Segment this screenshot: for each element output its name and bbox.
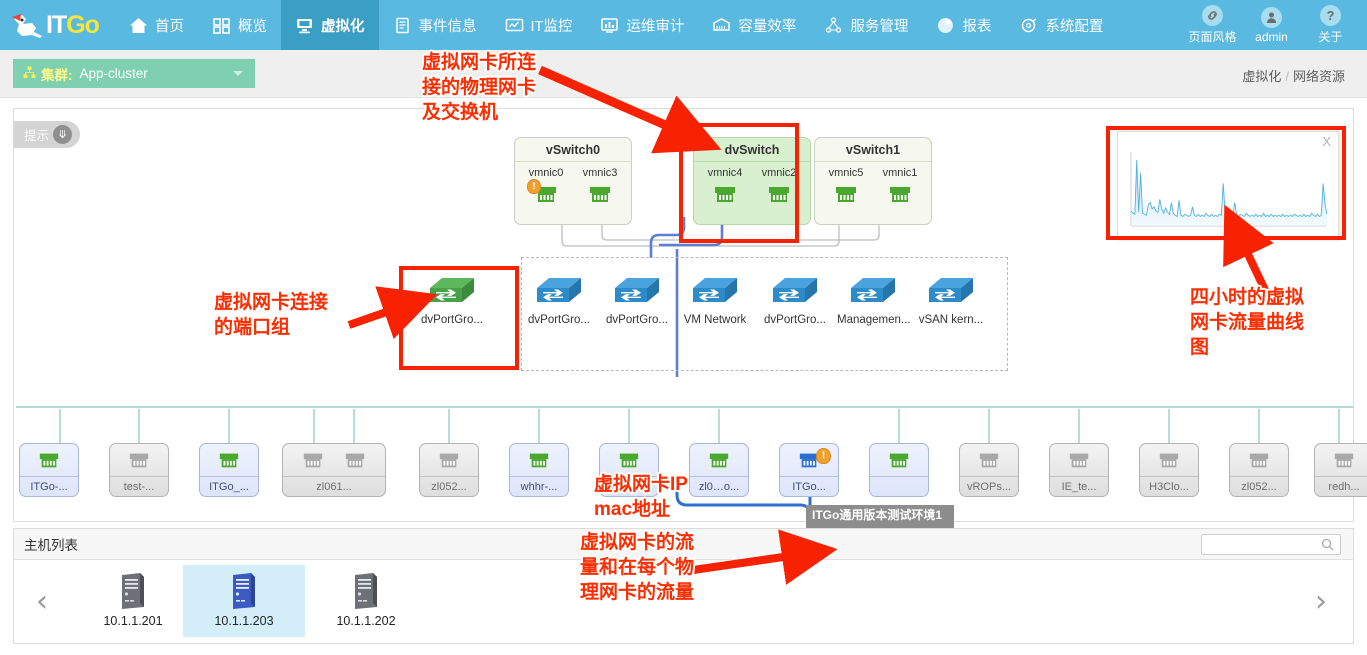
chevron-down-icon[interactable] bbox=[233, 71, 243, 76]
vm-node-6[interactable]: zl052... bbox=[599, 443, 659, 497]
question-icon: ? bbox=[1320, 5, 1341, 26]
settings-icon bbox=[1019, 16, 1038, 35]
port-group-2[interactable]: dvPortGro... bbox=[601, 272, 673, 326]
vm-label-9 bbox=[870, 476, 928, 496]
host-label-2: 10.1.1.202 bbox=[305, 614, 427, 628]
nic-vmnic3[interactable]: vmnic3 bbox=[579, 167, 621, 206]
vm-nics-14 bbox=[1315, 444, 1367, 476]
nav-item-capacity[interactable]: 容量效率 bbox=[698, 0, 810, 50]
vswitch-title-0: vSwitch0 bbox=[515, 138, 631, 162]
nav-item-service[interactable]: 服务管理 bbox=[810, 0, 922, 50]
vm-node-9[interactable] bbox=[869, 443, 929, 497]
nav-label-overview: 概览 bbox=[238, 15, 267, 36]
vm-nics-13 bbox=[1230, 444, 1288, 476]
grid-icon bbox=[212, 16, 231, 35]
breadcrumb-separator: / bbox=[1285, 69, 1289, 84]
vm-nics-2 bbox=[200, 444, 258, 476]
clipboard-icon bbox=[393, 16, 412, 35]
port-group-5[interactable]: Managemen... bbox=[837, 272, 909, 326]
sitemap-icon bbox=[23, 66, 36, 82]
vm-label-7: zl0…o... bbox=[690, 476, 748, 496]
vm-warning-badge: ! bbox=[816, 448, 831, 464]
nav-right-actions: 页面风格 admin ? 关于 bbox=[1184, 0, 1359, 50]
vswitch-node-0[interactable]: vSwitch0 vmnic0 ! vmnic3 bbox=[514, 137, 632, 225]
search-icon[interactable] bbox=[1321, 538, 1334, 557]
vm-nics-4 bbox=[420, 444, 478, 476]
vm-node-11[interactable]: IE_te... bbox=[1049, 443, 1109, 497]
nav-item-audit[interactable]: 运维审计 bbox=[586, 0, 698, 50]
port-group-label-5: Managemen... bbox=[837, 314, 909, 326]
nic-label-vmnic4: vmnic4 bbox=[704, 167, 746, 180]
tip-label: 提示 bbox=[24, 125, 49, 144]
user-name-label: admin bbox=[1255, 30, 1288, 44]
vm-label-4: zl052... bbox=[420, 476, 478, 496]
nav-item-report[interactable]: 报表 bbox=[922, 0, 1005, 50]
vm-nics-6 bbox=[600, 444, 658, 476]
vm-node-7[interactable]: zl0…o... bbox=[689, 443, 749, 497]
vm-node-2[interactable]: ITGo_... bbox=[199, 443, 259, 497]
user-menu-button[interactable]: admin bbox=[1243, 0, 1300, 50]
vm-node-10[interactable]: vROPs... bbox=[959, 443, 1019, 497]
page-style-label: 页面风格 bbox=[1188, 28, 1236, 45]
port-group-label-2: dvPortGro... bbox=[601, 314, 673, 326]
vm-label-6: zl052... bbox=[600, 476, 658, 496]
vm-nics-5 bbox=[510, 444, 568, 476]
host-label-0: 10.1.1.201 bbox=[72, 614, 194, 628]
vswitch-nics-1: vmnic4 vmnic2 bbox=[694, 162, 810, 206]
nic-warning-badge: ! bbox=[527, 179, 541, 194]
close-icon[interactable]: X bbox=[1322, 134, 1331, 149]
vswitch-node-1[interactable]: dvSwitch vmnic4 vmnic2 bbox=[693, 137, 811, 225]
nic-label-vmnic3: vmnic3 bbox=[579, 167, 621, 180]
vm-node-14[interactable]: redh... bbox=[1314, 443, 1367, 497]
vm-label-3: zl061... bbox=[283, 476, 385, 496]
vm-label-14: redh... bbox=[1315, 476, 1367, 496]
tip-toggle[interactable]: 提示 ⤋ bbox=[14, 121, 80, 148]
vm-nics-9 bbox=[870, 444, 928, 476]
search-input[interactable] bbox=[1202, 536, 1314, 555]
vm-nics-12 bbox=[1140, 444, 1198, 476]
nav-label-events: 事件信息 bbox=[419, 15, 477, 36]
vm-nics-3 bbox=[283, 444, 385, 476]
logo-text-go: Go bbox=[66, 11, 99, 39]
vm-node-5[interactable]: whhr-... bbox=[509, 443, 569, 497]
chart-icon bbox=[600, 16, 619, 35]
vm-node-13[interactable]: zl052... bbox=[1229, 443, 1289, 497]
breadcrumb-parent[interactable]: 虚拟化 bbox=[1242, 69, 1281, 84]
port-group-6[interactable]: vSAN kern... bbox=[915, 272, 987, 326]
vm-node-12[interactable]: H3Clo... bbox=[1139, 443, 1199, 497]
vswitch-title-1: dvSwitch bbox=[694, 138, 810, 162]
vm-node-8[interactable]: ! ITGo... bbox=[779, 443, 839, 497]
vm-nics-7 bbox=[690, 444, 748, 476]
double-chevron-down-icon[interactable]: ⤋ bbox=[53, 125, 72, 144]
app-logo[interactable]: ITGo bbox=[10, 10, 115, 40]
about-label: 关于 bbox=[1318, 28, 1342, 45]
vm-label-13: zl052... bbox=[1230, 476, 1288, 496]
vm-label-10: vROPs... bbox=[960, 476, 1018, 496]
vm-label-8: ITGo... bbox=[780, 476, 838, 496]
nav-items: 首页 概览 虚拟化 事件信息 IT监控 运维审计 容量效率 服务管理 bbox=[115, 0, 1117, 50]
search-box[interactable] bbox=[1201, 534, 1341, 555]
nic-vmnic4[interactable]: vmnic4 bbox=[704, 167, 746, 206]
nav-label-capacity: 容量效率 bbox=[738, 15, 796, 36]
vm-node-4[interactable]: zl052... bbox=[419, 443, 479, 497]
display-icon bbox=[505, 16, 524, 35]
nodes-icon bbox=[824, 16, 843, 35]
nav-label-system-config: 系统配置 bbox=[1045, 15, 1103, 36]
server-icon bbox=[712, 16, 731, 35]
port-group-0[interactable]: dvPortGro... bbox=[416, 272, 488, 326]
vm-label-12: H3Clo... bbox=[1140, 476, 1198, 496]
traffic-sparkline bbox=[1129, 152, 1329, 232]
nic-label-vmnic1: vmnic1 bbox=[879, 167, 921, 180]
logo-text-it: IT bbox=[46, 11, 66, 39]
vm-label-5: whhr-... bbox=[510, 476, 568, 496]
port-group-label-3: VM Network bbox=[679, 314, 751, 326]
nav-label-audit: 运维审计 bbox=[626, 15, 684, 36]
user-icon bbox=[1261, 7, 1282, 28]
vm-label-11: IE_te... bbox=[1050, 476, 1108, 496]
cluster-value: App-cluster bbox=[80, 66, 148, 81]
vswitch-title-2: vSwitch1 bbox=[815, 138, 931, 162]
logo-text: ITGo bbox=[46, 13, 99, 38]
vm-label-0: ITGo-... bbox=[20, 476, 78, 496]
port-group-label-4: dvPortGro... bbox=[759, 314, 831, 326]
page-style-button[interactable]: 页面风格 bbox=[1184, 0, 1241, 50]
host-list-title: 主机列表 bbox=[24, 534, 78, 554]
vswitch-nics-0: vmnic0 ! vmnic3 bbox=[515, 162, 631, 206]
nav-item-system-config[interactable]: 系统配置 bbox=[1005, 0, 1117, 50]
nic-label-vmnic5: vmnic5 bbox=[825, 167, 867, 180]
host-item-0[interactable]: 10.1.1.201 bbox=[72, 565, 194, 637]
breadcrumb: 虚拟化/网络资源 bbox=[1242, 66, 1345, 85]
vm-nics-8: ! bbox=[780, 444, 838, 476]
port-group-1[interactable]: dvPortGro... bbox=[523, 272, 595, 326]
monitor-icon bbox=[295, 16, 314, 35]
vm-nics-0 bbox=[20, 444, 78, 476]
traffic-chart-card: X bbox=[1117, 131, 1339, 239]
host-list-header: 主机列表 bbox=[14, 529, 1353, 560]
host-list-panel: 主机列表 ‹ › 10.1.1.201 10.1.1.203 10.1.1.20… bbox=[13, 528, 1354, 644]
cluster-selector-bar: 集群: App-cluster 虚拟化/网络资源 bbox=[0, 50, 1367, 98]
vswitch-node-2[interactable]: vSwitch1 vmnic5 vmnic1 bbox=[814, 137, 932, 225]
nic-vmnic0[interactable]: vmnic0 ! bbox=[525, 167, 567, 206]
nav-label-virtualization: 虚拟化 bbox=[321, 15, 365, 36]
breadcrumb-current: 网络资源 bbox=[1293, 69, 1345, 84]
dog-logo-icon bbox=[10, 10, 44, 40]
host-prev-button[interactable]: ‹ bbox=[36, 584, 48, 619]
vm-nics-1 bbox=[110, 444, 168, 476]
vswitch-nics-2: vmnic5 vmnic1 bbox=[815, 162, 931, 206]
nav-item-events[interactable]: 事件信息 bbox=[379, 0, 491, 50]
host-label-1: 10.1.1.203 bbox=[183, 614, 305, 628]
top-navigation-bar: ITGo 首页 概览 虚拟化 事件信息 IT监控 运维审计 容量效率 bbox=[0, 0, 1367, 50]
cluster-selector[interactable]: 集群: App-cluster bbox=[13, 59, 255, 88]
host-item-2[interactable]: 10.1.1.202 bbox=[305, 565, 427, 637]
port-group-label-1: dvPortGro... bbox=[523, 314, 595, 326]
home-icon bbox=[129, 16, 148, 35]
nic-vmnic2[interactable]: vmnic2 bbox=[758, 167, 800, 206]
host-next-button[interactable]: › bbox=[1315, 584, 1327, 619]
nic-vmnic1[interactable]: vmnic1 bbox=[879, 167, 921, 206]
vm-node-1[interactable]: test-... bbox=[109, 443, 169, 497]
tooltip-title: ITGo通用版本测试环境1 bbox=[806, 505, 954, 525]
pie-icon bbox=[936, 16, 955, 35]
vm-nics-11 bbox=[1050, 444, 1108, 476]
port-group-label-6: vSAN kern... bbox=[915, 314, 987, 326]
nav-label-it-monitor: IT监控 bbox=[531, 15, 573, 36]
nav-label-home: 首页 bbox=[155, 15, 184, 36]
nav-item-overview[interactable]: 概览 bbox=[198, 0, 281, 50]
vm-node-0[interactable]: ITGo-... bbox=[19, 443, 79, 497]
host-item-1[interactable]: 10.1.1.203 bbox=[183, 565, 305, 637]
nic-label-vmnic0: vmnic0 bbox=[525, 167, 567, 180]
port-group-label-0: dvPortGro... bbox=[416, 314, 488, 326]
vm-label-1: test-... bbox=[110, 476, 168, 496]
nav-label-report: 报表 bbox=[962, 15, 991, 36]
about-button[interactable]: ? 关于 bbox=[1302, 0, 1359, 50]
nic-vmnic5[interactable]: vmnic5 bbox=[825, 167, 867, 206]
vm-label-2: ITGo_... bbox=[200, 476, 258, 496]
nav-item-virtualization[interactable]: 虚拟化 bbox=[281, 0, 379, 50]
link-icon bbox=[1202, 5, 1223, 26]
vm-nics-10 bbox=[960, 444, 1018, 476]
nav-item-home[interactable]: 首页 bbox=[115, 0, 198, 50]
nav-item-it-monitor[interactable]: IT监控 bbox=[491, 0, 587, 50]
nav-label-service: 服务管理 bbox=[850, 15, 908, 36]
port-group-4[interactable]: dvPortGro... bbox=[759, 272, 831, 326]
nic-label-vmnic2: vmnic2 bbox=[758, 167, 800, 180]
cluster-label: 集群: bbox=[41, 64, 73, 84]
vm-node-3[interactable]: zl061... bbox=[282, 443, 386, 497]
port-group-3[interactable]: VM Network bbox=[679, 272, 751, 326]
